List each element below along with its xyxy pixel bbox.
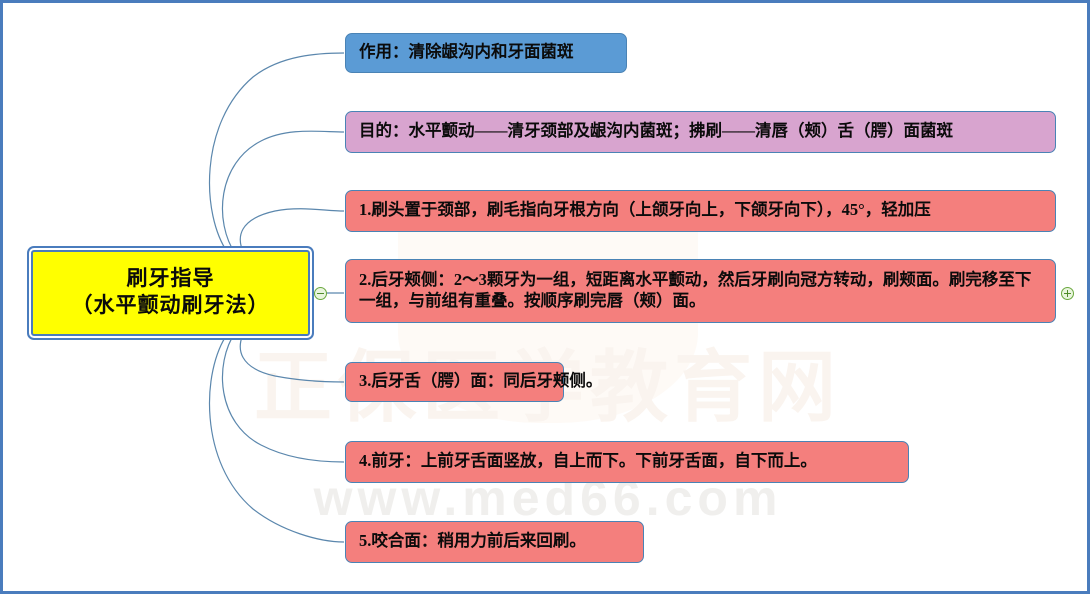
child-node-function[interactable]: 作用：清除龈沟内和牙面菌斑 [345, 33, 627, 73]
mindmap-canvas[interactable]: 正保医学教育网 www.med66.com 刷牙指导 （水平颤动刷牙法） 作用：… [0, 0, 1090, 594]
root-node-label-line1: 刷牙指导 [127, 266, 215, 290]
child-node-label: 目的：水平颤动——清牙颈部及龈沟内菌斑；拂刷——清唇（颊）舌（腭）面菌斑 [359, 120, 953, 141]
child-node-label: 3.后牙舌（腭）面：同后牙颊侧。 [359, 370, 602, 391]
child-node-label: 4.前牙：上前牙舌面竖放，自上而下。下前牙舌面，自下而上。 [359, 450, 817, 471]
child-node-purpose[interactable]: 目的：水平颤动——清牙颈部及龈沟内菌斑；拂刷——清唇（颊）舌（腭）面菌斑 [345, 111, 1056, 153]
root-collapse-toggle-icon[interactable] [314, 287, 327, 300]
child-node-step-4[interactable]: 4.前牙：上前牙舌面竖放，自上而下。下前牙舌面，自下而上。 [345, 441, 909, 483]
child-node-step-2[interactable]: 2.后牙颊侧：2～3颗牙为一组，短距离水平颤动，然后牙刷向冠方转动，刷颊面。刷完… [345, 259, 1056, 323]
child-node-label: 1.刷头置于颈部，刷毛指向牙根方向（上颌牙向上，下颌牙向下），45°，轻加压 [359, 199, 931, 220]
child-node-step-3[interactable]: 3.后牙舌（腭）面：同后牙颊侧。 [345, 362, 564, 402]
child-node-step-1[interactable]: 1.刷头置于颈部，刷毛指向牙根方向（上颌牙向上，下颌牙向下），45°，轻加压 [345, 190, 1056, 232]
child-node-label: 5.咬合面：稍用力前后来回刷。 [359, 530, 586, 551]
child-node-label: 作用：清除龈沟内和牙面菌斑 [359, 41, 574, 62]
child-node-step-2-expand-toggle-icon[interactable] [1061, 287, 1074, 300]
child-node-step-5[interactable]: 5.咬合面：稍用力前后来回刷。 [345, 521, 644, 563]
root-node-label-line2: （水平颤动刷牙法） [72, 293, 270, 317]
root-node[interactable]: 刷牙指导 （水平颤动刷牙法） [31, 250, 310, 336]
root-node-label: 刷牙指导 （水平颤动刷牙法） [46, 265, 295, 320]
child-node-label: 2.后牙颊侧：2～3颗牙为一组，短距离水平颤动，然后牙刷向冠方转动，刷颊面。刷完… [359, 269, 1042, 312]
